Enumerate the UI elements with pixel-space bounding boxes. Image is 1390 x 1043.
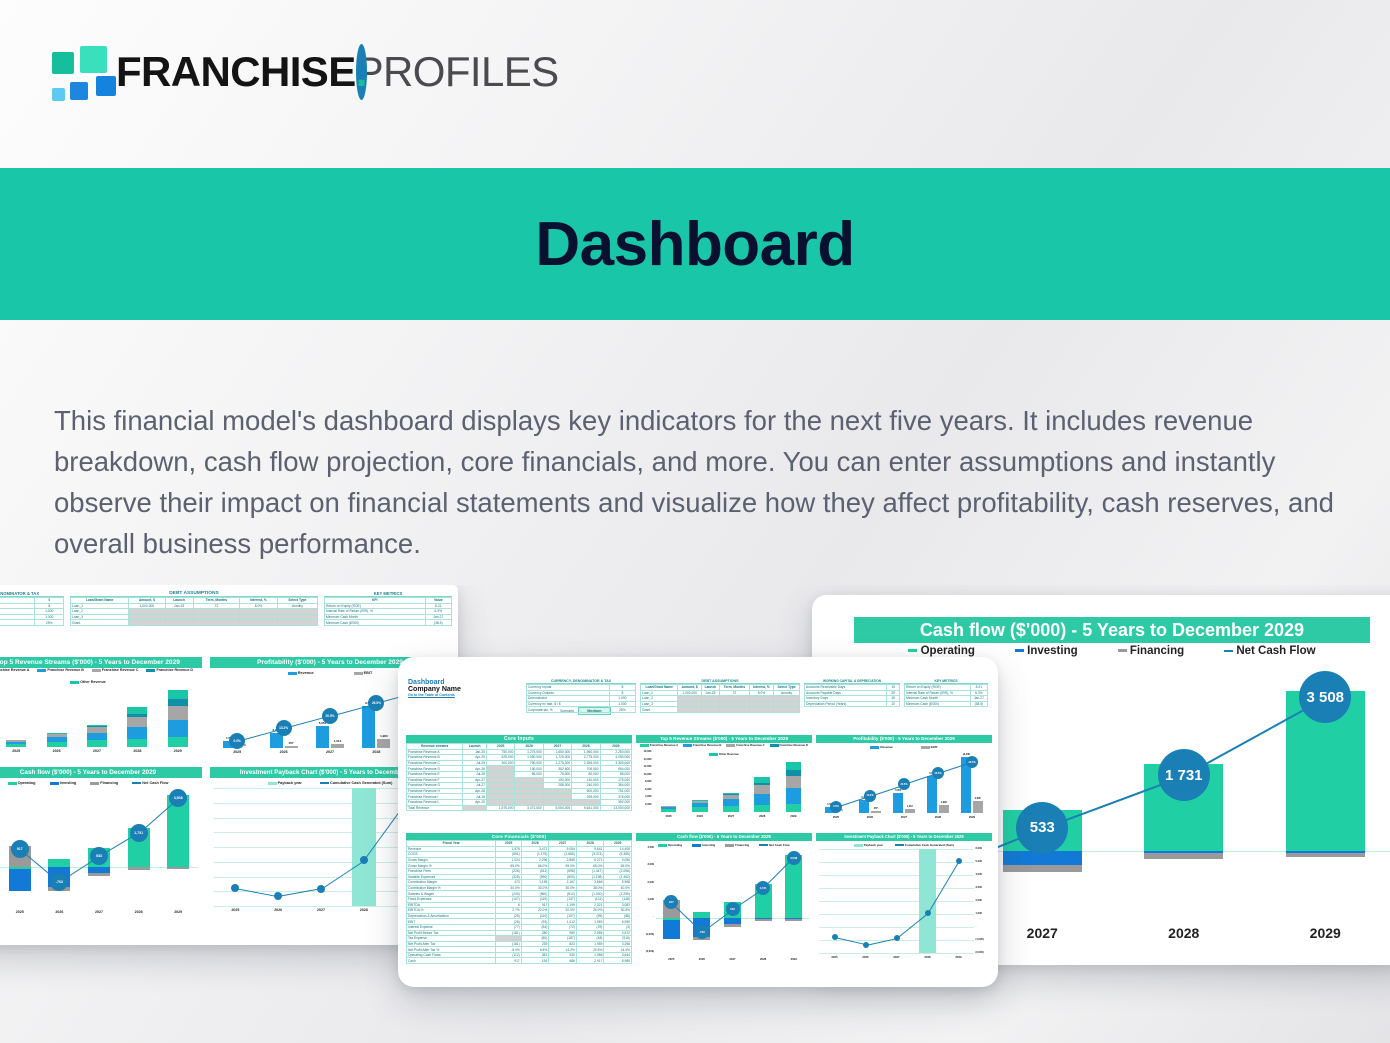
core-inputs-header: Core Inputs — [406, 735, 632, 743]
legend-item: Financing — [725, 843, 749, 847]
legend-swatch — [640, 744, 649, 747]
legend-item: Payback year — [854, 843, 883, 847]
bar-segment — [47, 737, 67, 741]
x-axis-label: 2029 — [158, 749, 198, 753]
revenue-bar — [316, 726, 329, 748]
chart-plot: 1,575420253,47145720265,0541,01220279,64… — [819, 751, 989, 813]
column-header: Loan/Grant Name — [641, 685, 678, 691]
legend-label: Franchise Revenue A — [649, 743, 678, 747]
table-cell — [749, 707, 773, 713]
legend-swatch — [320, 782, 329, 784]
card-subtitle: Company Name — [408, 686, 461, 693]
bar-segment — [127, 714, 147, 717]
legend-item: Financing — [1118, 645, 1185, 657]
bar-segment — [754, 783, 770, 786]
table-row: Minimum Cash ($'000)(38.5) — [325, 620, 452, 626]
legend-item: Operating — [658, 843, 682, 847]
x-axis-label: 2026 — [260, 750, 306, 754]
gridline — [819, 862, 974, 863]
legend-item: Operating — [908, 645, 975, 657]
legend-item: Franchise Revenue D — [770, 743, 808, 747]
table-cell: (38.5) — [970, 701, 987, 707]
core-financials-header: Core Financials ($'000) — [406, 833, 632, 840]
legend-label: Cumulative Cash Generated (Sum) — [329, 781, 393, 785]
margin-bubble: 20.5% — [322, 708, 338, 724]
data-label-bubble: 533 — [1016, 802, 1068, 854]
chart-title: Cash flow ($'000) - 5 Years to December … — [854, 617, 1370, 643]
bar-segment — [786, 770, 802, 776]
legend-item: Franchise Revenue A — [0, 668, 29, 672]
chart-legend: Franchise Revenue A Franchise Revenue B … — [636, 743, 812, 752]
gridline — [214, 832, 428, 833]
table-cell: 5,054,000 — [543, 805, 571, 811]
legend-swatch — [288, 672, 297, 675]
legend-item: Cumulative Cash Generated (Sum) — [320, 781, 393, 785]
debt-table: Loan/Grant NameAmount, $LaunchTerm, Mont… — [70, 597, 318, 626]
chart-title: Cash flow ($'000) - 5 Years to December … — [0, 767, 202, 778]
x-axis-label: 2026 — [257, 908, 300, 912]
currency-table: Currency Inputs$Currency Outputs$Denomin… — [526, 684, 636, 713]
bar-segment — [87, 726, 107, 727]
bar-segment — [661, 807, 677, 809]
kpi-table: KPIValueReturn on Equity (ROE)8.21Intern… — [324, 597, 452, 626]
legend-item: Operating — [8, 781, 36, 785]
legend-label: Financing — [99, 781, 118, 785]
ebit-bar — [905, 809, 915, 813]
y-axis-tick: 6,000 — [976, 847, 983, 850]
table-cell: Grant — [71, 620, 129, 626]
legend-item: Franchise Revenue A — [640, 743, 678, 747]
x-axis-label: 2028 — [342, 908, 385, 912]
legend-label: Franchise Revenue A — [0, 668, 29, 672]
table-row: Contribution Margin %30.0%33.0%30.0%38.0… — [407, 885, 632, 891]
bar-segment — [692, 800, 708, 803]
table-cell: Grant — [641, 707, 678, 713]
bar-segment — [9, 869, 31, 891]
y-axis-tick: 10,000 — [644, 773, 652, 776]
x-axis-label: 2026 — [40, 910, 80, 914]
x-axis-label: 2027 — [79, 910, 119, 914]
legend-swatch — [1118, 649, 1127, 652]
data-point — [274, 892, 282, 900]
bar-segment — [128, 867, 150, 870]
table-cell: 10 — [887, 701, 900, 707]
ebit-bar — [331, 744, 344, 748]
table-cell: 154 — [521, 958, 549, 964]
data-point — [925, 910, 931, 916]
table-row: Grant — [641, 707, 800, 713]
x-axis-label: 2028 — [353, 750, 399, 754]
gridline — [819, 953, 974, 954]
bar-segment — [47, 742, 67, 747]
data-label-bubble: 533 — [726, 902, 740, 916]
x-axis-label: 2027 — [307, 750, 353, 754]
legend-swatch — [683, 744, 692, 747]
legend-swatch — [268, 782, 277, 785]
brand-logo-icon — [52, 46, 114, 104]
x-axis-label: 2029 — [158, 910, 198, 914]
core-financials-table: Fiscal Year20252026202720282029Revenue1,… — [406, 840, 632, 964]
bar-segment — [786, 788, 802, 803]
legend-item: Franchise Revenue C — [92, 668, 139, 672]
table-cell: 13,000,000 — [600, 805, 631, 811]
table-cell — [701, 707, 719, 713]
bar-data-label: 457 — [868, 807, 884, 810]
y-axis-tick: (2,000) — [976, 951, 984, 954]
bar-segment — [754, 785, 770, 794]
legend-swatch — [90, 782, 99, 785]
x-axis-label: 2028 — [119, 910, 159, 914]
brand-name-light: PROFILES — [356, 48, 559, 95]
ebit-bar — [377, 739, 390, 748]
spreadsheet-left-preview[interactable]: CURRENCY, DENOMINATOR & TAX Currency Inp… — [0, 585, 458, 945]
legend-item: Net Cash Flow — [1224, 645, 1315, 657]
chart-title: Profitability ($'000) - 5 Years to Decem… — [816, 735, 992, 743]
bar-segment — [1286, 853, 1365, 858]
margin-bubble: 0.0% — [830, 801, 842, 813]
gridline — [214, 847, 428, 848]
revenue-bar — [362, 706, 375, 748]
table-row: Corporate tax, %25% — [0, 620, 64, 626]
logo-square-4 — [70, 82, 88, 100]
legend-label: Payback year — [863, 843, 883, 847]
y-axis-tick: - — [651, 810, 652, 813]
cumulative-cash-line — [235, 888, 278, 897]
bar-segment — [786, 776, 802, 788]
gridline — [214, 788, 428, 789]
y-axis-tick: (1,000) — [976, 938, 984, 941]
table-cell: 686 — [549, 958, 577, 964]
table-cell: Corporate tax, % — [0, 620, 35, 626]
legend-label: Net Cash Flow — [1233, 645, 1315, 657]
x-axis-label: 2026 — [687, 957, 718, 961]
data-label-bubble: -763 — [695, 925, 709, 939]
bar-segment — [168, 690, 188, 699]
bar-segment — [1144, 853, 1223, 859]
brand-dot: . — [356, 44, 367, 100]
bar-data-label: 457 — [282, 741, 301, 745]
gridline — [214, 862, 428, 863]
margin-bubble: 26.5% — [932, 767, 944, 779]
bar-segment — [168, 699, 188, 706]
legend-item: Financing — [90, 781, 118, 785]
x-axis-label: 2025 — [653, 814, 684, 818]
table-cell — [240, 620, 278, 626]
toc-link[interactable]: Go to the Table of Contents — [408, 693, 461, 697]
legend-label: Franchise Revenue C — [101, 668, 139, 672]
chart-title: Investment Payback Chart ($'000) - 5 Yea… — [816, 833, 992, 841]
x-axis-label: 2029 — [778, 814, 809, 818]
chart-plot: 20252026202720282029-2,0004,0006,0008,00… — [653, 752, 809, 812]
bar-segment — [754, 777, 770, 783]
chart-revenue-streams[interactable]: Top 5 Revenue Streams ($'000) - 5 Years … — [636, 735, 812, 827]
legend-item: Franchise Revenue B — [683, 743, 721, 747]
legend-swatch — [895, 844, 904, 846]
bar-segment — [663, 920, 680, 939]
chart-legend: Franchise Revenue A Franchise Revenue B … — [0, 668, 202, 679]
bar-segment — [785, 855, 802, 918]
chart-legend: Payback year Cumulative Cash Generated (… — [816, 841, 992, 849]
legend-swatch — [37, 669, 46, 672]
y-axis-tick: 5,000 — [976, 860, 983, 863]
margin-bubble: 30.5% — [966, 756, 978, 768]
brand-name-bold: FRANCHISE — [116, 48, 356, 95]
data-label-bubble: 3,508 — [169, 789, 187, 807]
legend-swatch — [854, 844, 863, 847]
margin-bubble: 20.5% — [898, 778, 910, 790]
logo-bar: FRANCHISE.PROFILES — [0, 0, 1390, 168]
chart-plot: 20252026202720282029-2,0004,0006,0008,00… — [0, 679, 198, 747]
gridline — [214, 803, 428, 804]
chart-revenue-streams[interactable]: Top 5 Revenue Streams ($'000) - 5 Years … — [0, 657, 202, 763]
chart-profitability[interactable]: Profitability ($'000) - 5 Years to Decem… — [816, 735, 992, 827]
x-axis-label: 2027 — [887, 815, 921, 819]
legend-swatch — [92, 669, 101, 672]
legend-item: Cumulative Cash Generated (Sum) — [895, 843, 954, 847]
legend-label: Operating — [667, 843, 682, 847]
chart-legend: Operating Investing Financing Net Cash F… — [0, 778, 202, 788]
x-axis-label: 2026 — [850, 955, 881, 959]
data-point — [863, 942, 869, 948]
data-label-bubble: -763 — [50, 873, 68, 891]
legend-label: Financing — [734, 843, 749, 847]
revenue-bar — [893, 793, 903, 813]
x-axis-label: 2029 — [778, 957, 809, 961]
x-axis-label: 2028 — [117, 749, 157, 753]
table-row: Depreciation Period (Years)10 — [805, 701, 900, 707]
legend-swatch — [759, 844, 768, 846]
core-inputs-table: Revenue streamsLaunch2025202620272028202… — [406, 743, 632, 811]
ebit-bar — [939, 805, 949, 813]
legend-item: Net Cash Flow — [759, 843, 790, 847]
x-axis-label: 2026 — [853, 815, 887, 819]
legend-swatch — [692, 844, 701, 847]
y-axis-tick: 1,000 — [976, 912, 983, 915]
table-row: Minimum Cash ($'000)(38.5) — [905, 701, 988, 707]
x-axis-label: 2027 — [300, 908, 343, 912]
y-axis-tick: (1,000) — [646, 933, 654, 936]
legend-swatch — [132, 782, 141, 784]
bar-segment — [692, 800, 708, 801]
chart-legend: Revenue EBIT — [816, 743, 992, 751]
y-axis-tick: 3,000 — [976, 886, 983, 889]
chart-cashflow-small[interactable]: Cash flow ($'000) - 5 Years to December … — [636, 833, 812, 977]
y-axis-tick: 14,000 — [644, 758, 652, 761]
dashboard-card[interactable]: Dashboard Company Name Go to the Table o… — [398, 657, 998, 987]
chart-plot: 20252026202720282029917-7635331,7313,508… — [656, 849, 809, 953]
table-cell — [678, 707, 701, 713]
gridline — [214, 906, 428, 907]
legend-label: Investing — [1024, 645, 1078, 657]
legend-swatch — [354, 672, 363, 675]
legend-swatch — [921, 746, 930, 749]
data-point — [894, 935, 900, 941]
legend-label: Franchise Revenue D — [779, 743, 808, 747]
x-axis-label: 2029 — [943, 955, 974, 959]
y-axis-tick: 4,000 — [648, 846, 655, 849]
x-axis-label: 2025 — [819, 815, 853, 819]
bar-segment — [723, 799, 739, 805]
chart-title: Top 5 Revenue Streams ($'000) - 5 Years … — [636, 735, 812, 743]
table-row: Corporate tax, %25% — [527, 707, 636, 713]
bar-segment — [88, 873, 110, 876]
data-label-bubble: 1 731 — [1158, 749, 1210, 801]
y-axis-tick: (2,000) — [646, 950, 654, 953]
page-banner: Dashboard — [0, 168, 1390, 320]
gridline — [819, 914, 974, 915]
legend-swatch — [8, 782, 17, 785]
bar-segment — [127, 717, 147, 727]
bar-segment — [754, 805, 770, 812]
y-axis-tick: 8,000 — [645, 780, 652, 783]
legend-label: EBIT — [930, 745, 938, 749]
legend-item: Payback year — [268, 781, 302, 785]
table-cell: Cash — [407, 958, 496, 964]
bar-segment — [47, 734, 67, 737]
bar-segment — [168, 706, 188, 720]
bar-segment — [693, 912, 710, 919]
x-axis-label: 2025 — [0, 749, 36, 753]
x-axis-label: 2026 — [36, 749, 76, 753]
x-axis-label: 2028 — [912, 955, 943, 959]
legend-item: EBIT — [921, 745, 938, 749]
legend-item: Net Cash Flow — [132, 781, 168, 785]
bar-segment — [167, 867, 189, 869]
margin-bubble: 26.5% — [368, 695, 384, 711]
y-axis-tick: 2,000 — [645, 803, 652, 806]
chart-plot: 20252026202720282029917-7635331,7313,508… — [0, 788, 198, 906]
table-cell — [719, 707, 749, 713]
column-header: Term, Months — [719, 685, 749, 691]
bar-segment — [723, 793, 739, 794]
legend-swatch — [658, 844, 667, 847]
data-label-bubble: 917 — [11, 840, 29, 858]
x-axis-label: 2025 — [214, 750, 260, 754]
legend-label: Franchise Revenue B — [692, 743, 721, 747]
gridline — [214, 877, 428, 878]
y-axis-tick: 12,000 — [644, 765, 652, 768]
chart-legend: Operating Investing Financing Net Cash F… — [636, 841, 812, 849]
x-axis-label: 2029 — [955, 815, 989, 819]
bar-segment — [6, 744, 26, 747]
card-title: Dashboard — [408, 679, 461, 686]
logo-square-3 — [96, 76, 116, 96]
table-cell — [193, 620, 239, 626]
margin-bubble: 13.2% — [276, 720, 292, 736]
bar-data-label: 1,012 — [328, 739, 347, 743]
table-row: Grant — [71, 620, 318, 626]
chart-cashflow-small[interactable]: Cash flow ($'000) - 5 Years to December … — [0, 767, 202, 935]
legend-item: Franchise Revenue C — [726, 743, 764, 747]
table-cell: Depreciation Period (Years) — [805, 701, 887, 707]
y-axis-tick: 4,000 — [645, 795, 652, 798]
x-axis-label: 2027 — [77, 749, 117, 753]
x-axis-label: 2027 — [881, 955, 912, 959]
bar-segment — [692, 803, 708, 807]
legend-label: Investing — [701, 843, 715, 847]
data-point — [956, 858, 962, 864]
ebit-bar — [871, 811, 881, 813]
bar-segment — [755, 919, 772, 921]
x-axis-label: 2027 — [717, 957, 748, 961]
currency-table: Currency Inputs$Currency Outputs$Denomin… — [0, 597, 64, 626]
chart-title: Top 5 Revenue Streams ($'000) - 5 Years … — [0, 657, 202, 668]
brand-wordmark: FRANCHISE.PROFILES — [116, 44, 559, 100]
x-axis-label: 2028 — [748, 957, 779, 961]
gridline — [819, 849, 974, 850]
table-cell: 3,471,000 — [515, 805, 543, 811]
gridline — [214, 818, 428, 819]
x-axis-label: 2028 — [921, 815, 955, 819]
x-axis-label: 2028 — [1113, 925, 1255, 941]
legend-swatch — [770, 744, 779, 747]
bar-segment — [47, 733, 67, 734]
bar-data-label: 2,995 — [970, 797, 986, 800]
legend-label: Payback year — [277, 781, 302, 785]
bar-segment — [127, 727, 147, 739]
table-cell: 5,985 — [604, 958, 632, 964]
table-row: Depreciation & Amortization(26)(110)(107… — [407, 913, 632, 919]
legend-label: Net Cash Flow — [768, 843, 790, 847]
bar-segment — [661, 806, 677, 807]
table-cell: (38.5) — [425, 620, 451, 626]
legend-swatch — [725, 844, 734, 847]
bar-segment — [754, 794, 770, 804]
table-cell — [774, 707, 800, 713]
legend-swatch — [50, 782, 59, 785]
bar-segment — [168, 737, 188, 747]
legend-item: Investing — [692, 843, 715, 847]
chart-payback[interactable]: Investment Payback Chart ($'000) - 5 Yea… — [816, 833, 992, 977]
bar-segment — [692, 807, 708, 812]
legend-label: Cumulative Cash Generated (Sum) — [904, 843, 954, 847]
bar-segment — [127, 739, 147, 747]
data-label-bubble: 3,508 — [787, 851, 801, 865]
bar-segment — [48, 859, 70, 866]
cumulative-cash-line — [278, 889, 321, 898]
legend-label: Revenue — [297, 671, 314, 675]
cumulative-cash-line — [834, 937, 865, 945]
kpi-table: Return on Equity (ROE)8.21Internal Rate … — [904, 684, 988, 707]
legend-item: Investing — [50, 781, 77, 785]
table-cell: Corporate tax, % — [527, 707, 610, 713]
legend-swatch — [1224, 650, 1233, 652]
ebit-bar — [973, 801, 983, 813]
bar-segment — [87, 733, 107, 740]
legend-label: Financing — [1127, 645, 1185, 657]
y-axis-tick: 3,000 — [648, 863, 655, 866]
bar-data-label: 1,983 — [936, 801, 952, 804]
y-axis-tick: 2,000 — [976, 899, 983, 902]
legend-label: EBIT — [363, 671, 373, 675]
table-cell — [165, 620, 193, 626]
legend-item: Franchise Revenue D — [146, 668, 193, 672]
bar-data-label: 1,012 — [902, 805, 918, 808]
y-axis-tick: 2,000 — [648, 881, 655, 884]
legend-label: Franchise Revenue C — [735, 743, 764, 747]
chart-title: Cash flow ($'000) - 5 Years to December … — [636, 833, 812, 841]
table-row: Cash9171546862,9175,985 — [407, 958, 632, 964]
y-axis-tick: 16,000 — [644, 750, 652, 753]
y-axis-tick: 6,000 — [645, 788, 652, 791]
table-cell: Minimum Cash ($'000) — [905, 701, 971, 707]
table-cell: 9,641,000 — [572, 805, 600, 811]
table-row: Total Revenue1,575,0003,471,0005,054,000… — [407, 805, 632, 811]
table-cell: 25% — [35, 620, 64, 626]
x-axis-label: 2028 — [747, 814, 778, 818]
legend-label: Operating — [17, 781, 36, 785]
margin-bubble: 13.2% — [864, 790, 876, 802]
